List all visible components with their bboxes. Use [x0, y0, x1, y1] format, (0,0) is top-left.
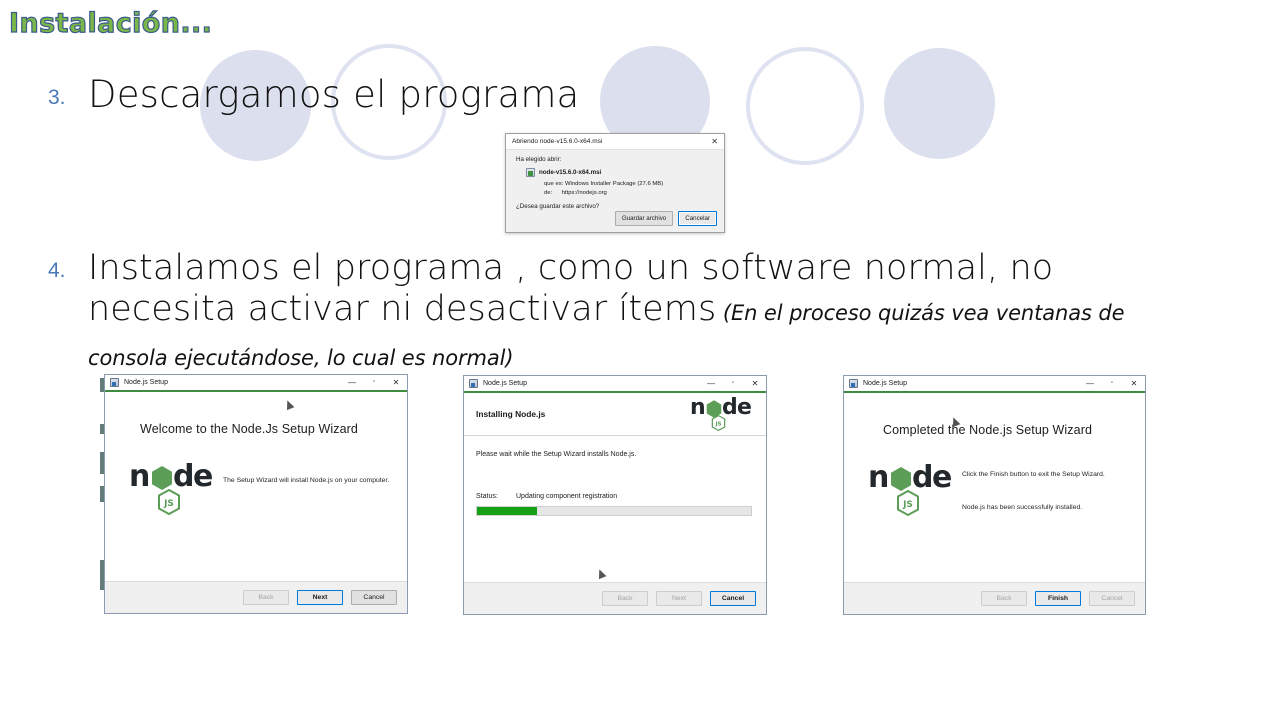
logo-letter-e: e [737, 397, 752, 419]
close-icon[interactable]: ✕ [708, 138, 721, 146]
logo-js-hexagon: JS [711, 415, 726, 431]
svg-text:JS: JS [714, 421, 721, 427]
bullet-item-4: 4. Instalamos el programa , como un soft… [48, 248, 1148, 379]
download-file-name: node-v15.6.0-x64.msi [539, 169, 601, 176]
wizard1-footer: Back Next Cancel [105, 581, 407, 613]
wizard1-body-text: The Setup Wizard will install Node.js on… [223, 476, 397, 486]
svg-text:JS: JS [902, 500, 913, 510]
bullet-number-4: 4. [48, 248, 88, 281]
back-button[interactable]: Back [243, 590, 289, 605]
wizard3-titlebar: Node.js Setup — ▫ ✕ [844, 376, 1145, 393]
node-setup-window-completed[interactable]: Node.js Setup — ▫ ✕ Completed the Node.j… [843, 375, 1146, 615]
minimize-icon[interactable]: — [1079, 375, 1101, 392]
node-setup-window-installing[interactable]: Node.js Setup — ▫ ✕ Installing Node.js n… [463, 375, 767, 615]
logo-js-hexagon: JS [157, 489, 181, 515]
nodejs-logo-wordmark: n d e [129, 462, 217, 492]
wizard2-window-controls: — ▫ ✕ [700, 375, 766, 392]
wizard1-title: Node.js Setup [124, 379, 341, 386]
status-value: Updating component registration [516, 493, 617, 500]
maximize-icon[interactable]: ▫ [1101, 375, 1123, 392]
nodejs-logo: n d e JS [868, 463, 956, 515]
bullet-text-3: Descargamos el programa [88, 73, 579, 117]
maximize-icon[interactable]: ▫ [363, 374, 385, 391]
wizard1-window-controls: — ▫ ✕ [341, 374, 407, 391]
next-button[interactable]: Next [656, 591, 702, 606]
cancel-button[interactable]: Cancel [1089, 591, 1135, 606]
cancel-button[interactable]: Cancel [710, 591, 756, 606]
wizard2-title: Node.js Setup [483, 380, 700, 387]
installer-icon [849, 379, 858, 388]
wizard2-heading: Installing Node.js [476, 409, 545, 419]
decorative-circle-5 [884, 48, 995, 159]
logo-hexagon-o [890, 467, 912, 491]
close-icon[interactable]: ✕ [744, 375, 766, 392]
logo-letter-n: n [868, 463, 889, 493]
download-from-key: de: [544, 189, 560, 198]
msi-file-icon [526, 168, 535, 177]
cancel-button[interactable]: Cancelar [678, 211, 717, 226]
download-type-line: que es: Windows Installer Package (27.6 … [544, 180, 716, 189]
download-file-meta: que es: Windows Installer Package (27.6 … [544, 180, 716, 197]
download-dialog-lead: Ha elegido abrir: [516, 156, 716, 163]
wizard1-titlebar: Node.js Setup — ▫ ✕ [105, 375, 407, 392]
save-file-button[interactable]: Guardar archivo [615, 211, 673, 226]
installer-icon [469, 379, 478, 388]
logo-js-hexagon: JS [896, 490, 920, 516]
wizard3-body-text-2: Node.js has been successfully installed. [962, 503, 1135, 513]
bullet-text-4: Instalamos el programa , como un softwar… [88, 248, 1148, 379]
download-type-value: Windows Installer Package (27.6 MB) [565, 181, 663, 187]
progress-bar [476, 506, 752, 516]
minimize-icon[interactable]: — [341, 374, 363, 391]
wizard2-banner: Installing Node.js n d e JS [464, 393, 766, 436]
page-title: Instalación... [9, 8, 212, 39]
logo-hexagon-o [151, 466, 173, 490]
cancel-button[interactable]: Cancel [351, 590, 397, 605]
download-dialog-buttons: Guardar archivo Cancelar [615, 211, 717, 226]
download-file-row: node-v15.6.0-x64.msi [526, 168, 716, 177]
wizard2-status-row: Status: Updating component registration [476, 493, 617, 500]
nodejs-logo: n d e JS [129, 462, 217, 514]
decorative-circle-4 [746, 47, 864, 165]
minimize-icon[interactable]: — [700, 375, 722, 392]
logo-letter-n: n [690, 397, 706, 419]
download-from-line: de: https://nodejs.org [544, 189, 716, 198]
wizard3-footer: Back Finish Cancel [844, 582, 1145, 614]
close-icon[interactable]: ✕ [1123, 375, 1145, 392]
wizard1-heading: Welcome to the Node.Js Setup Wizard [105, 422, 393, 436]
wizard3-title: Node.js Setup [863, 380, 1079, 387]
download-dialog-titlebar: Abriendo node-v15.6.0-x64.msi ✕ [506, 134, 724, 150]
next-button[interactable]: Next [297, 590, 343, 605]
wizard2-body: Installing Node.js n d e JS Please wait … [464, 393, 766, 614]
wizard3-heading: Completed the Node.js Setup Wizard [844, 423, 1131, 437]
logo-letter-e: e [193, 462, 213, 492]
logo-letter-e: e [932, 463, 952, 493]
download-dialog-body: Ha elegido abrir: node-v15.6.0-x64.msi q… [506, 150, 724, 232]
back-button[interactable]: Back [981, 591, 1027, 606]
wizard1-body: Welcome to the Node.Js Setup Wizard n d … [105, 392, 407, 613]
progress-bar-fill [477, 507, 537, 515]
status-label: Status: [476, 493, 516, 500]
nodejs-logo-wordmark: n d e [868, 463, 956, 493]
slide-canvas: Instalación... 3. Descargamos el program… [0, 0, 1280, 720]
download-dialog-title: Abriendo node-v15.6.0-x64.msi [512, 138, 708, 145]
bullet-item-3: 3. Descargamos el programa [48, 73, 579, 117]
download-from-value: https://nodejs.org [562, 190, 607, 196]
wizard3-window-controls: — ▫ ✕ [1079, 375, 1145, 392]
download-question: ¿Desea guardar este archivo? [516, 203, 716, 210]
wizard2-titlebar: Node.js Setup — ▫ ✕ [464, 376, 766, 393]
finish-button[interactable]: Finish [1035, 591, 1081, 606]
nodejs-logo-small: n d e JS [690, 399, 754, 429]
wizard3-body: Completed the Node.js Setup Wizard n d e… [844, 393, 1145, 614]
logo-letter-d: d [173, 462, 194, 492]
bullet-number-3: 3. [48, 73, 88, 108]
wizard2-body-text: Please wait while the Setup Wizard insta… [476, 451, 754, 458]
installer-icon [110, 378, 119, 387]
maximize-icon[interactable]: ▫ [722, 375, 744, 392]
svg-text:JS: JS [163, 499, 174, 509]
logo-letter-n: n [129, 462, 150, 492]
download-type-key: que es: [544, 180, 563, 189]
wizard2-footer: Back Next Cancel [464, 582, 766, 614]
node-setup-window-welcome[interactable]: Node.js Setup — ▫ ✕ Welcome to the Node.… [104, 374, 408, 614]
close-icon[interactable]: ✕ [385, 374, 407, 391]
logo-letter-d: d [912, 463, 933, 493]
back-button[interactable]: Back [602, 591, 648, 606]
download-dialog[interactable]: Abriendo node-v15.6.0-x64.msi ✕ Ha elegi… [505, 133, 725, 233]
wizard3-body-text: Click the Finish button to exit the Setu… [962, 470, 1135, 480]
